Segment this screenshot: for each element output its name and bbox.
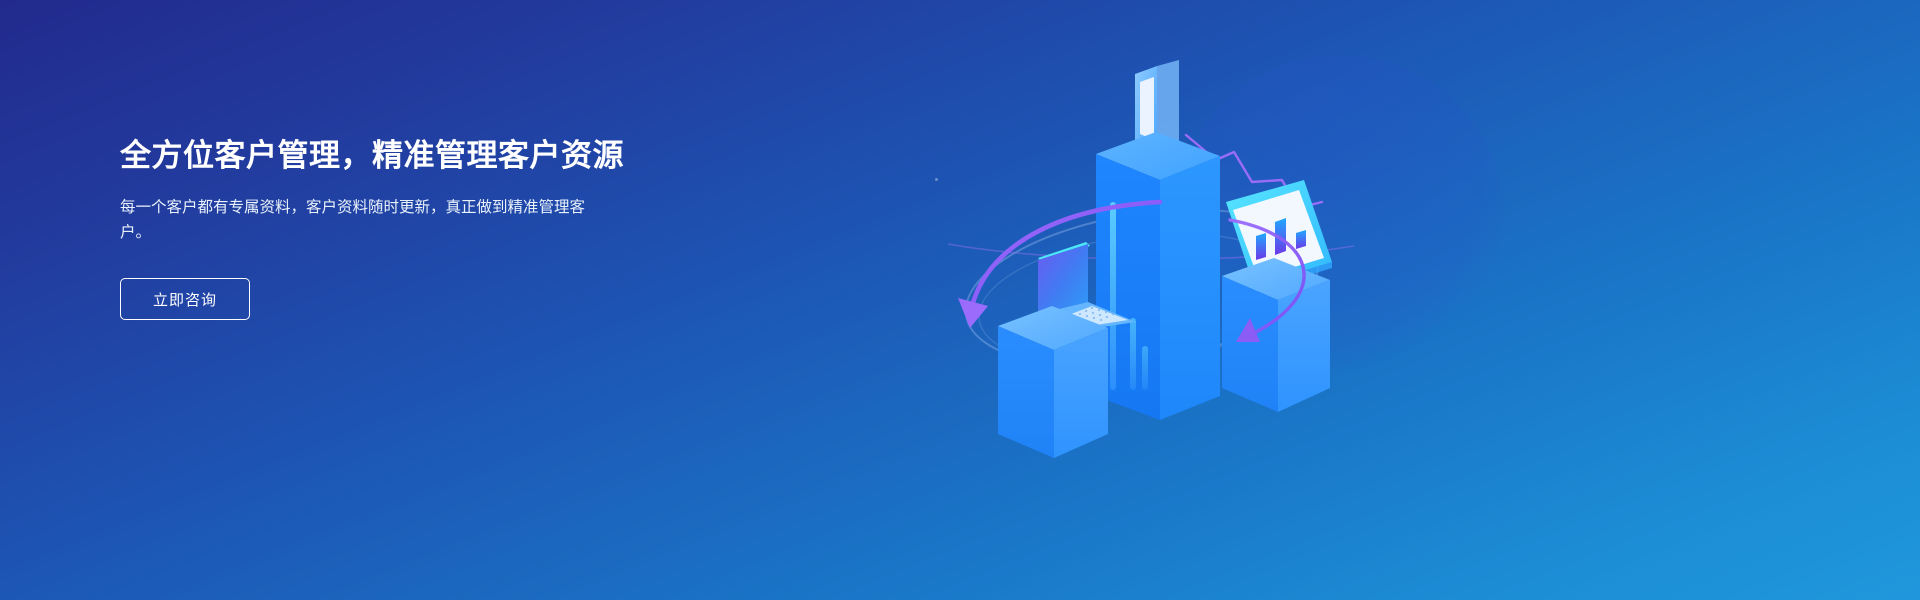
isometric-illustration bbox=[930, 30, 1370, 470]
right-pedestal-with-chart-monitor bbox=[1222, 180, 1332, 412]
left-pedestal-side bbox=[1054, 328, 1108, 458]
right-pedestal-side bbox=[1278, 280, 1330, 412]
hero-subtitle: 每一个客户都有专属资料，客户资料随时更新，真正做到精准管理客户。 bbox=[120, 195, 600, 245]
illustration-svg bbox=[930, 30, 1370, 470]
center-column-side bbox=[1160, 156, 1220, 420]
consult-now-button[interactable]: 立即咨询 bbox=[120, 278, 250, 320]
page-title: 全方位客户管理，精准管理客户资源 bbox=[120, 136, 640, 176]
hero-banner: 全方位客户管理，精准管理客户资源 每一个客户都有专属资料，客户资料随时更新，真正… bbox=[0, 0, 1920, 600]
hero-copy-block: 全方位客户管理，精准管理客户资源 每一个客户都有专属资料，客户资料随时更新，真正… bbox=[120, 136, 640, 320]
right-pedestal-front bbox=[1222, 276, 1278, 412]
center-column-with-tablet bbox=[1096, 60, 1220, 420]
